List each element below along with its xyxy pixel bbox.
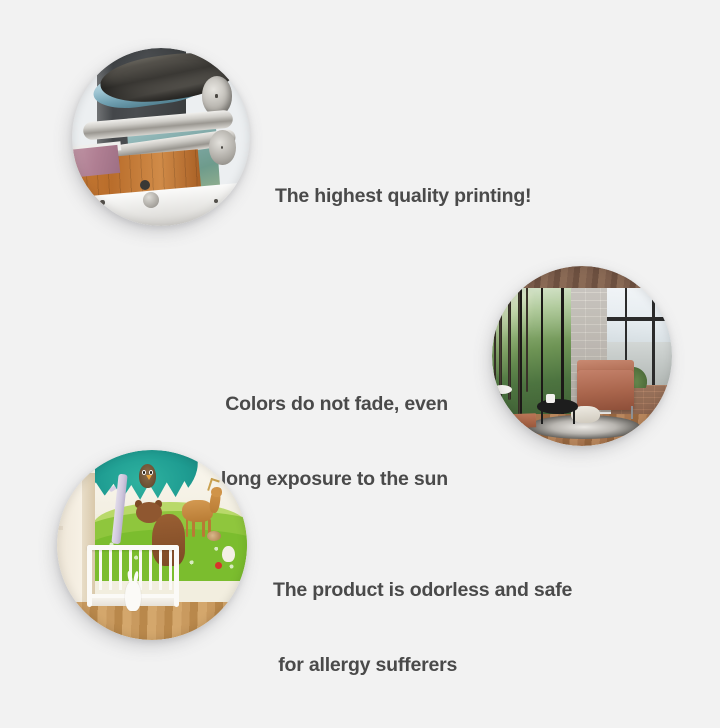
caption-line: The highest quality printing! <box>275 184 531 209</box>
promo-feature-page: The highest quality printing! <box>0 0 720 720</box>
nursery-woodland-mural-photo <box>57 450 247 640</box>
printing-machine-photo <box>72 48 250 226</box>
owl-illustration <box>139 464 156 488</box>
forest-mural-loft-illustration <box>492 266 672 446</box>
printing-machine-illustration <box>72 48 250 226</box>
caption-line: Colors do not fade, even <box>130 392 448 417</box>
caption-line: The product is odorless and safe <box>273 578 572 603</box>
nursery-woodland-mural-illustration <box>57 450 247 640</box>
rabbit-illustration <box>125 581 140 611</box>
feature-caption-odorless-safe: The product is odorless and safe for all… <box>273 528 572 728</box>
feature-caption-quality-printing: The highest quality printing! <box>275 134 531 259</box>
forest-mural-loft-photo <box>492 266 672 446</box>
caption-line: for allergy sufferers <box>273 653 572 678</box>
